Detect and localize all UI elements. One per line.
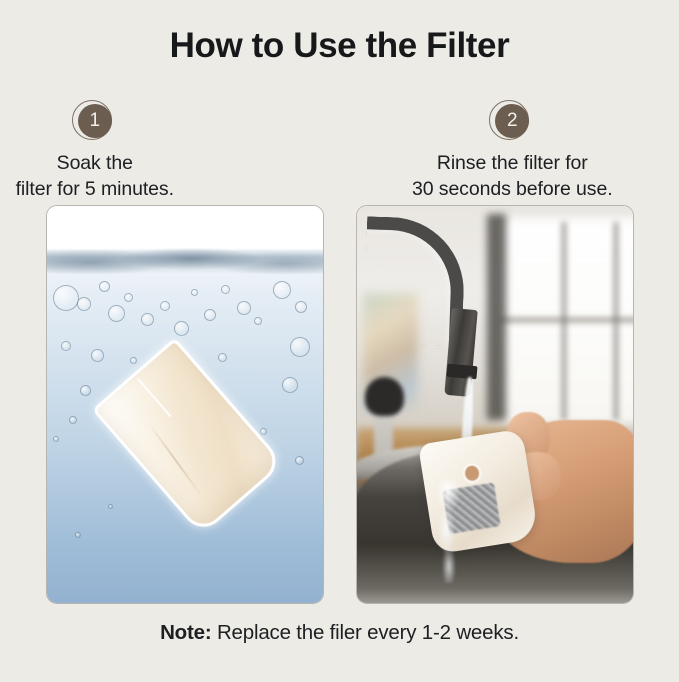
bubble-icon xyxy=(141,313,154,326)
water-surface-line xyxy=(46,248,324,274)
bubble-icon xyxy=(108,305,125,322)
step-2-image-panel xyxy=(356,205,634,604)
bubble-icon xyxy=(260,428,267,435)
water-splash xyxy=(426,480,470,583)
step-2-caption: Rinse the filter for 30 seconds before u… xyxy=(412,151,613,203)
bubble-icon xyxy=(80,385,91,396)
soap-dispenser-top xyxy=(365,377,404,417)
step-1-number: 1 xyxy=(78,104,112,138)
footer-note-label: Note: xyxy=(160,621,211,644)
step-1-badge: 1 xyxy=(72,100,118,142)
step-2: 2 Rinse the filter for 30 seconds before… xyxy=(340,100,679,203)
bubble-icon xyxy=(53,285,79,311)
bubble-icon xyxy=(191,289,198,296)
step-1-caption: Soak the filter for 5 minutes. xyxy=(16,151,174,203)
step-2-badge: 2 xyxy=(489,100,535,142)
step-1-image-panel xyxy=(46,205,324,604)
page-title: How to Use the Filter xyxy=(0,27,679,66)
footer-note-text: Replace the filer every 1-2 weeks. xyxy=(217,621,519,644)
image-panels xyxy=(46,205,634,604)
bubble-icon xyxy=(61,341,71,351)
bubble-icon xyxy=(290,337,310,357)
step-1: 1 Soak the filter for 5 minutes. xyxy=(0,100,340,203)
bubble-icon xyxy=(174,321,189,336)
bubble-icon xyxy=(218,353,227,362)
bubble-icon xyxy=(91,349,104,362)
bubble-icon xyxy=(75,532,81,538)
bubble-icon xyxy=(282,377,298,393)
step-2-number: 2 xyxy=(495,104,529,138)
window-mullion-horizontal xyxy=(501,317,634,323)
window-frame-dark xyxy=(487,214,506,420)
footer-note: Note: Replace the filer every 1-2 weeks. xyxy=(0,621,679,645)
infographic-root: How to Use the Filter 1 Soak the filter … xyxy=(0,0,679,682)
steps-header-row: 1 Soak the filter for 5 minutes. 2 Rinse… xyxy=(0,100,679,203)
bubble-icon xyxy=(108,504,113,509)
bubble-icon xyxy=(130,357,137,364)
bubble-icon xyxy=(53,436,59,442)
